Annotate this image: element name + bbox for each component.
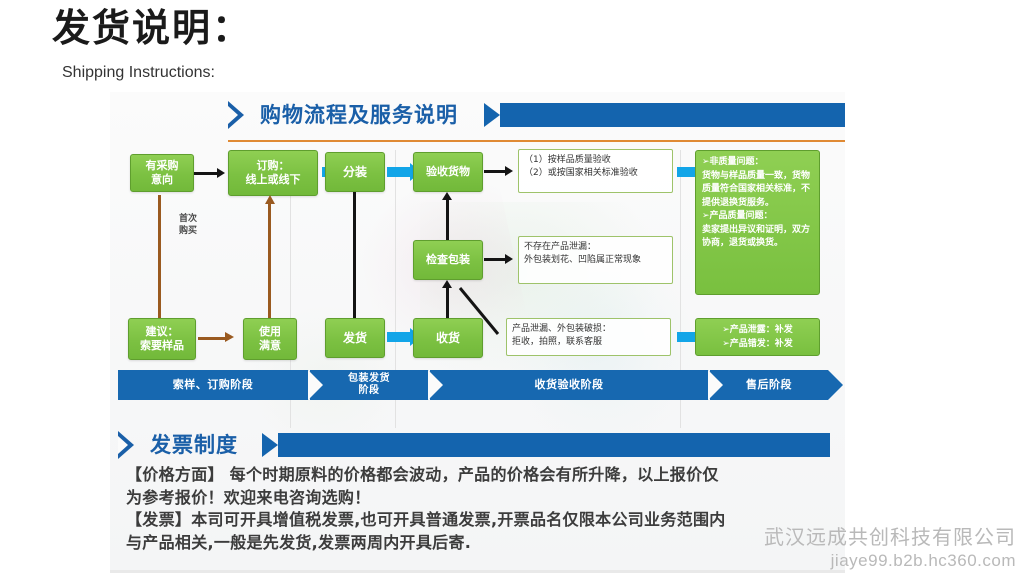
flowchart-canvas: 购物流程及服务说明 有采购 意向 订购： 线上或线下 分装 验收货物 （1）按样… bbox=[110, 92, 845, 573]
invoice-text-block: 【价格方面】 每个时期原料的价格都会波动，产品的价格会有所升降，以上报价仅 为参… bbox=[118, 464, 830, 572]
flow-box-purchase-intent: 有采购 意向 bbox=[130, 154, 194, 192]
flowchart-banner-title: 购物流程及服务说明 bbox=[260, 100, 458, 130]
chevron-right-icon bbox=[262, 433, 278, 457]
stage-ribbon: 索样、订购阶段 包装发货 阶段 收货验收阶段 售后阶段 bbox=[118, 370, 830, 400]
invoice-paragraph: 【价格方面】 每个时期原料的价格都会波动，产品的价格会有所升降，以上报价仅 为参… bbox=[126, 464, 830, 555]
flow-note-no-leak: 不存在产品泄漏： 外包装划花、凹陷属正常现象 bbox=[518, 236, 673, 284]
stage-packing-shipping: 包装发货 阶段 bbox=[310, 370, 428, 400]
banner-bar bbox=[278, 433, 830, 457]
arrow-repack-to-ship bbox=[349, 192, 359, 332]
flow-box-aftersale-policy: ➢非质量问题： 货物与样品质量一致，货物质量符合国家相关标准，不提供退换货服务。… bbox=[695, 150, 820, 295]
flow-box-receive: 收货 bbox=[413, 318, 483, 358]
arrow-sample-to-satisfied bbox=[198, 332, 238, 344]
chevron-right-icon bbox=[484, 103, 500, 127]
invoice-line: 【发票】本司可开具增值税发票,也可开具普通发票,开票品名仅限本公司业务范围内 bbox=[126, 509, 830, 532]
arrow-checkpkg-to-note bbox=[484, 254, 516, 264]
invoice-banner-title: 发票制度 bbox=[150, 430, 238, 460]
flow-box-ship: 发货 bbox=[325, 318, 385, 358]
stage-sample-order: 索样、订购阶段 bbox=[118, 370, 308, 400]
invoice-line: 【价格方面】 每个时期原料的价格都会波动，产品的价格会有所升降，以上报价仅 bbox=[126, 464, 830, 487]
chevron-left-icon bbox=[228, 101, 244, 129]
stage-aftersale: 售后阶段 bbox=[710, 370, 828, 400]
invoice-banner: 发票制度 bbox=[118, 430, 830, 460]
chevron-left-icon bbox=[118, 431, 134, 459]
flow-box-inspect-goods: 验收货物 bbox=[413, 152, 483, 192]
arrow-intent-to-order bbox=[194, 168, 226, 178]
page-left-margin bbox=[0, 92, 110, 573]
page-title: 发货说明： bbox=[52, 6, 252, 50]
flow-box-reship-policy: ➢产品泄露：补发 ➢产品错发：补发 bbox=[695, 318, 820, 356]
arrow-satisfied-to-order bbox=[264, 195, 276, 330]
invoice-line: 与产品相关,一般是先发货,发票两周内开具后寄. bbox=[126, 532, 830, 555]
flow-box-satisfied: 使用 满意 bbox=[243, 318, 297, 360]
flow-box-request-sample: 建议： 索要样品 bbox=[128, 318, 196, 360]
page-subtitle: Shipping Instructions: bbox=[62, 64, 215, 82]
flow-note-inspect-standard: （1）按样品质量验收 （2）或按国家相关标准验收 bbox=[518, 149, 673, 193]
invoice-line: 为参考报价！欢迎来电咨询选购！ bbox=[126, 487, 830, 510]
background-leaf-icon bbox=[510, 272, 690, 442]
first-purchase-label: 首次 购买 bbox=[168, 214, 208, 237]
flow-box-check-package: 检查包装 bbox=[413, 240, 483, 280]
flowchart-banner: 购物流程及服务说明 bbox=[228, 100, 940, 130]
arrow-first-purchase-down bbox=[154, 195, 166, 330]
stage-receive-inspect: 收货验收阶段 bbox=[430, 370, 708, 400]
flow-box-repack: 分装 bbox=[325, 152, 385, 192]
orange-divider bbox=[228, 140, 940, 142]
shipping-instructions-image: 购物流程及服务说明 有采购 意向 订购： 线上或线下 分装 验收货物 （1）按样… bbox=[0, 92, 1024, 573]
arrow-checkpkg-to-inspect bbox=[442, 192, 452, 242]
flow-note-leak-damage: 产品泄漏、外包装破损： 拒收，拍照，联系客服 bbox=[506, 318, 671, 356]
page-right-margin bbox=[845, 92, 1024, 573]
arrow-inspect-to-note bbox=[484, 166, 516, 176]
flow-box-order: 订购： 线上或线下 bbox=[228, 150, 318, 196]
